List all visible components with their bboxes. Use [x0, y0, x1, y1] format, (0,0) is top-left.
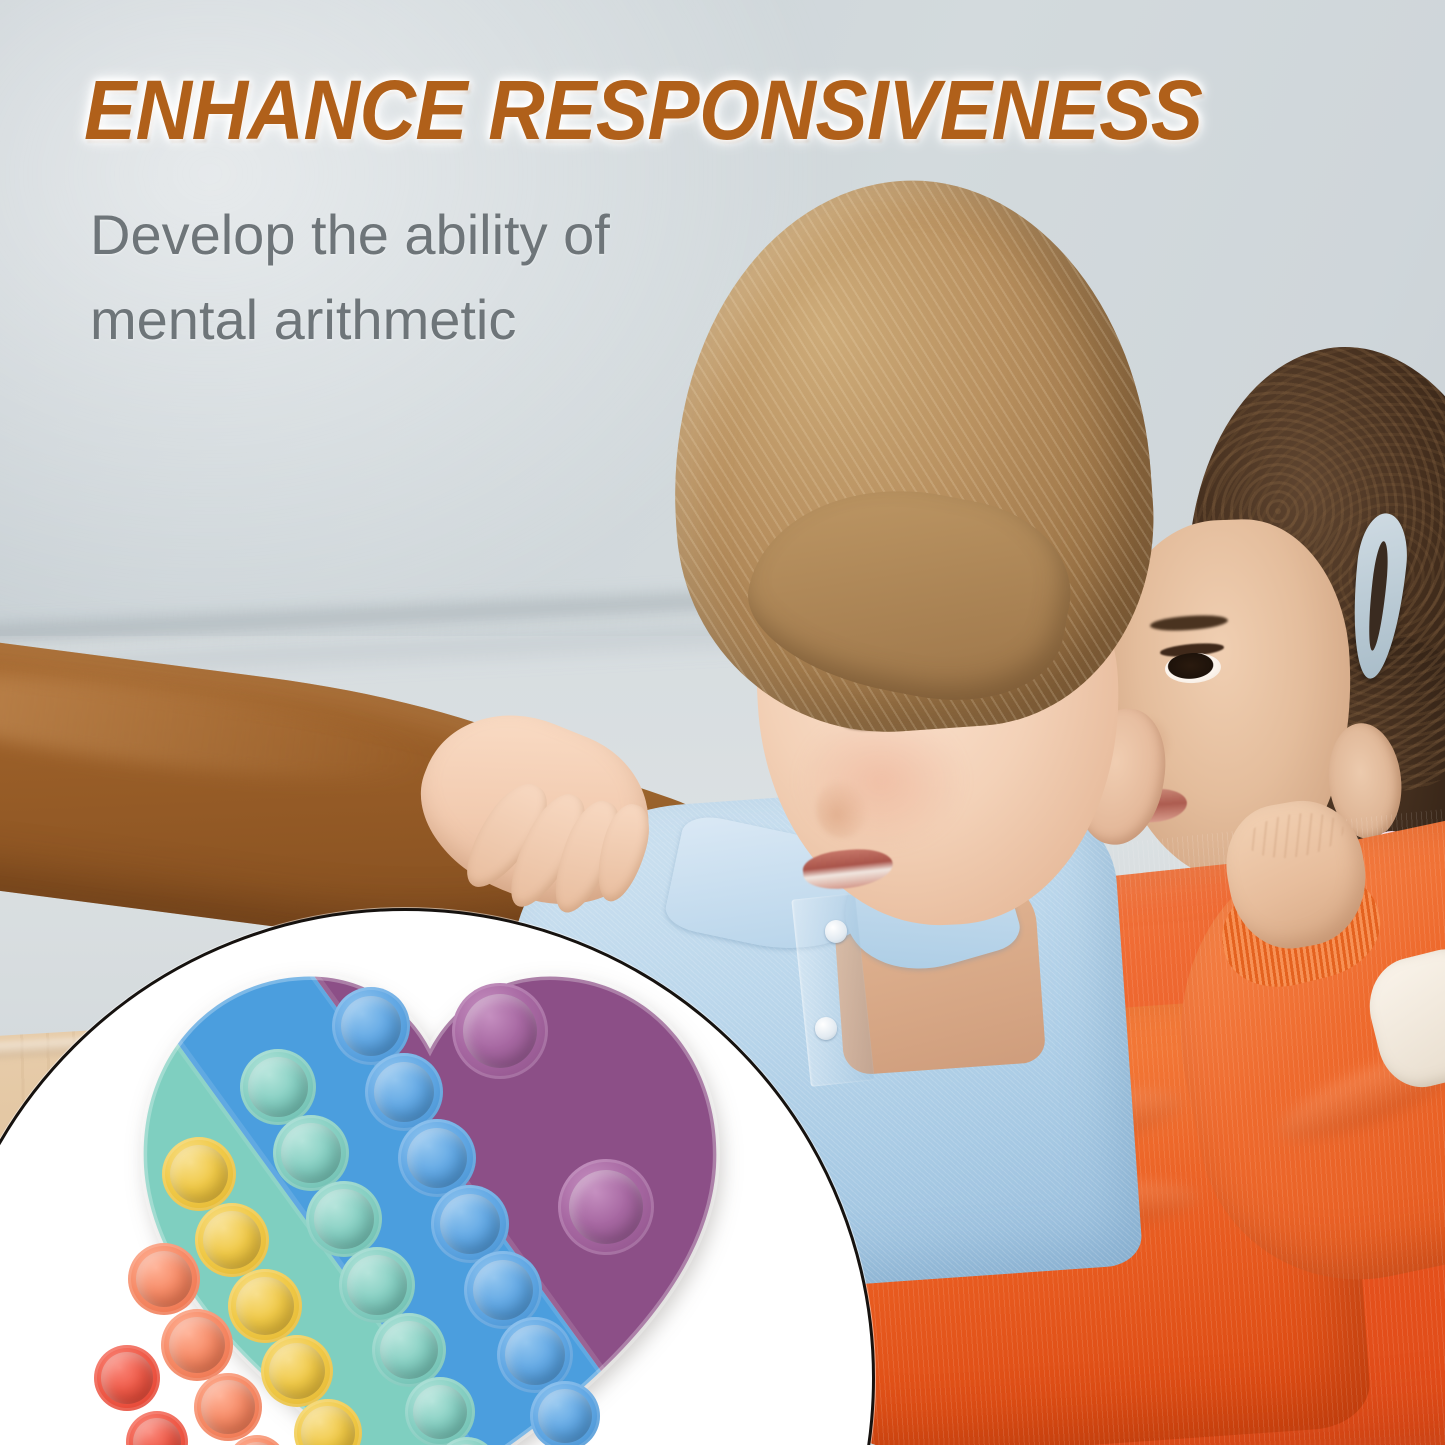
pop-bubble-purple[interactable] [558, 1159, 654, 1255]
pop-it-heart-toy [134, 941, 724, 1445]
pop-bubble-yellow[interactable] [228, 1269, 302, 1343]
pop-bubble-orange[interactable] [128, 1243, 200, 1315]
pop-bubble-orange[interactable] [161, 1309, 233, 1381]
page-title: ENHANCE RESPONSIVENESS [84, 68, 1202, 152]
subtitle-text: Develop the ability of mental arithmetic [90, 192, 610, 362]
pop-bubble-mint[interactable] [405, 1377, 475, 1445]
product-marketing-poster: ENHANCE RESPONSIVENESS Develop the abili… [0, 0, 1445, 1445]
pop-bubble-mint[interactable] [339, 1247, 415, 1323]
polo-button [815, 1017, 837, 1039]
pop-bubble-mint[interactable] [306, 1181, 382, 1257]
pop-bubble-purple[interactable] [452, 983, 548, 1079]
pop-bubble-yellow[interactable] [195, 1203, 269, 1277]
pop-bubble-yellow[interactable] [261, 1335, 333, 1407]
pop-bubble-mint[interactable] [372, 1313, 446, 1387]
pop-bubble-mint[interactable] [273, 1115, 349, 1191]
pop-bubble-mint[interactable] [240, 1049, 316, 1125]
pop-bubble-red[interactable] [94, 1345, 160, 1411]
pop-bubble-yellow[interactable] [162, 1137, 236, 1211]
pop-bubble-blue[interactable] [530, 1381, 600, 1445]
pop-bubble-orange[interactable] [194, 1373, 262, 1441]
